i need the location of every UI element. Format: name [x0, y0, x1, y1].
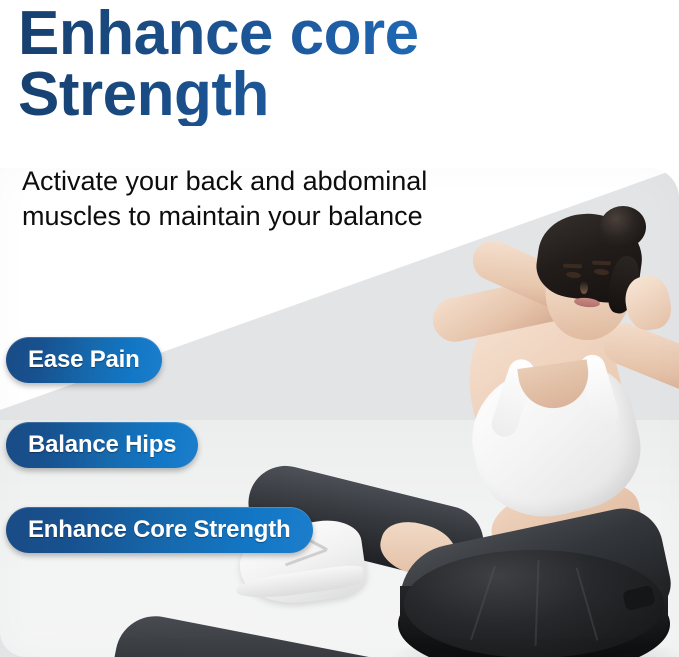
benefit-pill-ease-pain[interactable]: Ease Pain — [6, 337, 162, 383]
benefit-pill-label: Enhance Core Strength — [28, 516, 291, 544]
eyebrow — [563, 264, 582, 269]
page-subtitle: Activate your back and abdominal muscles… — [22, 164, 542, 233]
benefit-pill-enhance-core-strength[interactable]: Enhance Core Strength — [6, 507, 313, 553]
page-title: Enhance core Strength — [18, 4, 638, 126]
hero-photo — [0, 168, 679, 657]
benefit-pill-label: Ease Pain — [28, 346, 140, 374]
eyebrow — [592, 261, 611, 266]
nose — [580, 281, 588, 294]
hair-bun — [600, 206, 646, 248]
benefit-pill-balance-hips[interactable]: Balance Hips — [6, 422, 198, 468]
promo-banner: Enhance core Strength Activate your back… — [0, 0, 679, 657]
benefit-pill-label: Balance Hips — [28, 431, 176, 459]
